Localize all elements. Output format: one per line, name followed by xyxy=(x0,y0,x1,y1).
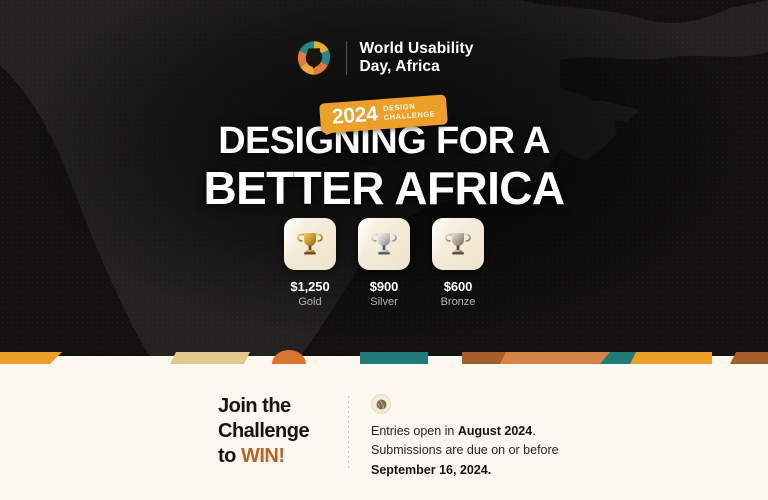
badge-year: 2024 xyxy=(332,103,379,127)
headline: DESIGNING FOR A BETTER AFRICA xyxy=(0,122,768,212)
logo-divider xyxy=(346,41,347,75)
cta-line-3: to WIN! xyxy=(218,444,330,469)
design-challenge-badge-wrap: 2024 DESIGN CHALLENGE xyxy=(0,99,768,129)
cta-heading: Join the Challenge to WIN! xyxy=(218,394,330,470)
gold-trophy-icon xyxy=(295,229,325,259)
headline-line-2: BETTER AFRICA xyxy=(0,165,768,212)
prize-item-gold: $1,250 Gold xyxy=(284,218,336,308)
poster: World Usability Day, Africa DESIGNING FO… xyxy=(0,0,768,500)
prize-list: $1,250 Gold xyxy=(0,218,768,308)
entries-pre: Entries open in xyxy=(371,424,458,438)
prize-card-gold xyxy=(284,218,336,270)
cta-accent-win: WIN! xyxy=(241,445,285,467)
prize-amount: $900 xyxy=(358,279,410,294)
cta-line-3-pre: to xyxy=(218,445,241,467)
entries-date: August 2024 xyxy=(458,424,532,438)
info-text: Entries open in August 2024. Submissions… xyxy=(371,422,559,480)
prize-item-silver: $900 Silver xyxy=(358,218,410,308)
badge-label: DESIGN CHALLENGE xyxy=(383,101,436,122)
design-challenge-badge: 2024 DESIGN CHALLENGE xyxy=(319,94,448,133)
prize-tier: Bronze xyxy=(432,296,484,308)
brand-lockup: World Usability Day, Africa xyxy=(0,38,768,78)
prize-amount: $600 xyxy=(432,279,484,294)
prize-tier: Silver xyxy=(358,296,410,308)
entries-post: . xyxy=(532,424,535,438)
prize-card-bronze xyxy=(432,218,484,270)
prize-item-bronze: $600 Bronze xyxy=(432,218,484,308)
cta-line-1: Join the xyxy=(218,394,330,419)
due-date: September 16, 2024. xyxy=(371,463,491,477)
hero-section: World Usability Day, Africa DESIGNING FO… xyxy=(0,0,768,356)
bottom-section: Join the Challenge to WIN! Entries open … xyxy=(0,356,768,500)
section-divider xyxy=(348,396,349,470)
prize-card-silver xyxy=(358,218,410,270)
silver-trophy-icon xyxy=(369,229,399,259)
bronze-trophy-icon xyxy=(443,229,473,259)
africa-globe-logo-icon xyxy=(294,38,334,78)
brand-name: World Usability Day, Africa xyxy=(359,40,473,77)
cta-line-2: Challenge xyxy=(218,419,330,444)
prize-tier: Gold xyxy=(284,296,336,308)
globe-badge-icon xyxy=(371,394,391,414)
prize-amount: $1,250 xyxy=(284,279,336,294)
info-block: Entries open in August 2024. Submissions… xyxy=(371,394,559,480)
due-pre: Submissions are due on or before xyxy=(371,443,559,457)
